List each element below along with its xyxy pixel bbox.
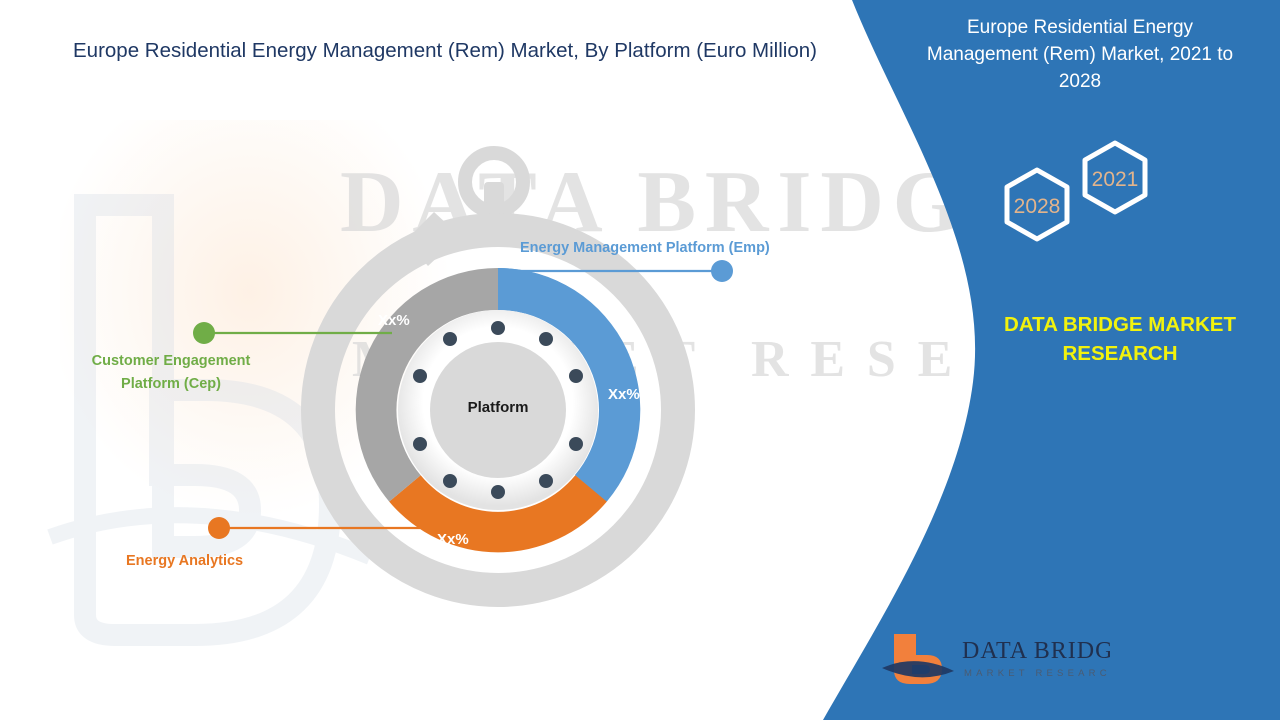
- hexagon-2028: 2028: [1007, 170, 1067, 239]
- year-hexagons: 2028 2021: [985, 140, 1175, 265]
- infographic-canvas: DATA BRIDGE MARKET RESEARCH Europe Resid…: [0, 0, 1280, 720]
- logo-secondary-text: MARKET RESEARCH: [964, 668, 1110, 679]
- hexagon-2028-label: 2028: [1014, 195, 1061, 218]
- logo-mark-icon: [882, 634, 954, 684]
- hexagon-2021-label: 2021: [1092, 168, 1139, 191]
- hexagon-2021: 2021: [1085, 143, 1145, 212]
- logo-primary-text: DATA BRIDGE: [962, 638, 1110, 664]
- data-bridge-logo: DATA BRIDGE MARKET RESEARCH: [880, 628, 1110, 690]
- brand-name: DATA BRIDGE MARKET RESEARCH: [970, 310, 1270, 368]
- right-panel-title: Europe Residential Energy Management (Re…: [920, 14, 1240, 95]
